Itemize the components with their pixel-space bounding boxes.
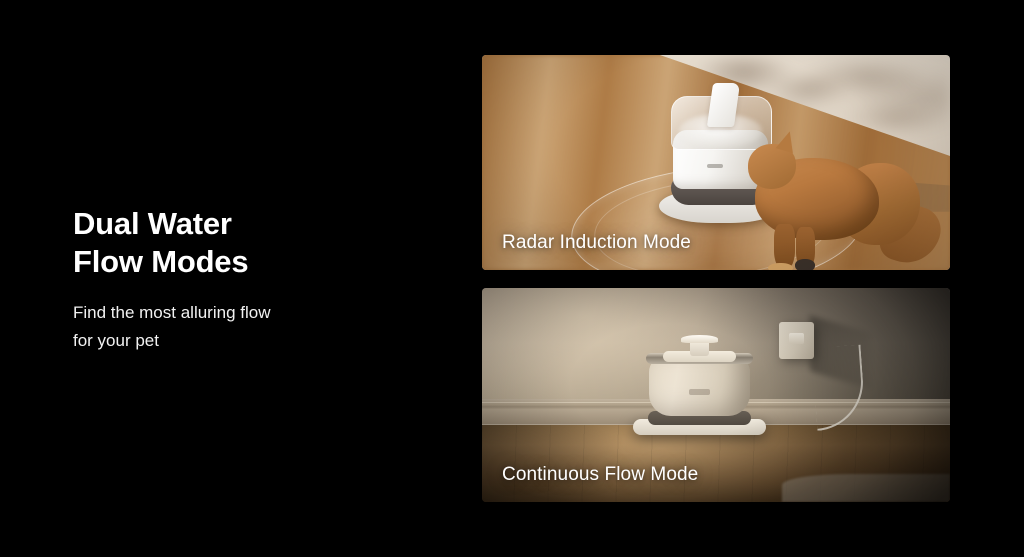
page-subtitle: Find the most alluring flow for your pet xyxy=(73,281,413,355)
panel-continuous-flow[interactable]: Continuous Flow Mode xyxy=(482,288,950,502)
panel-caption-radar: Radar Induction Mode xyxy=(502,232,691,254)
panel-caption-continuous: Continuous Flow Mode xyxy=(502,464,698,486)
page-title: Dual Water Flow Modes xyxy=(73,205,413,281)
panel-radar-induction[interactable]: Radar Induction Mode xyxy=(482,55,950,270)
slide-root: Dual Water Flow Modes Find the most allu… xyxy=(0,0,1024,557)
copy-block: Dual Water Flow Modes Find the most allu… xyxy=(73,205,413,355)
